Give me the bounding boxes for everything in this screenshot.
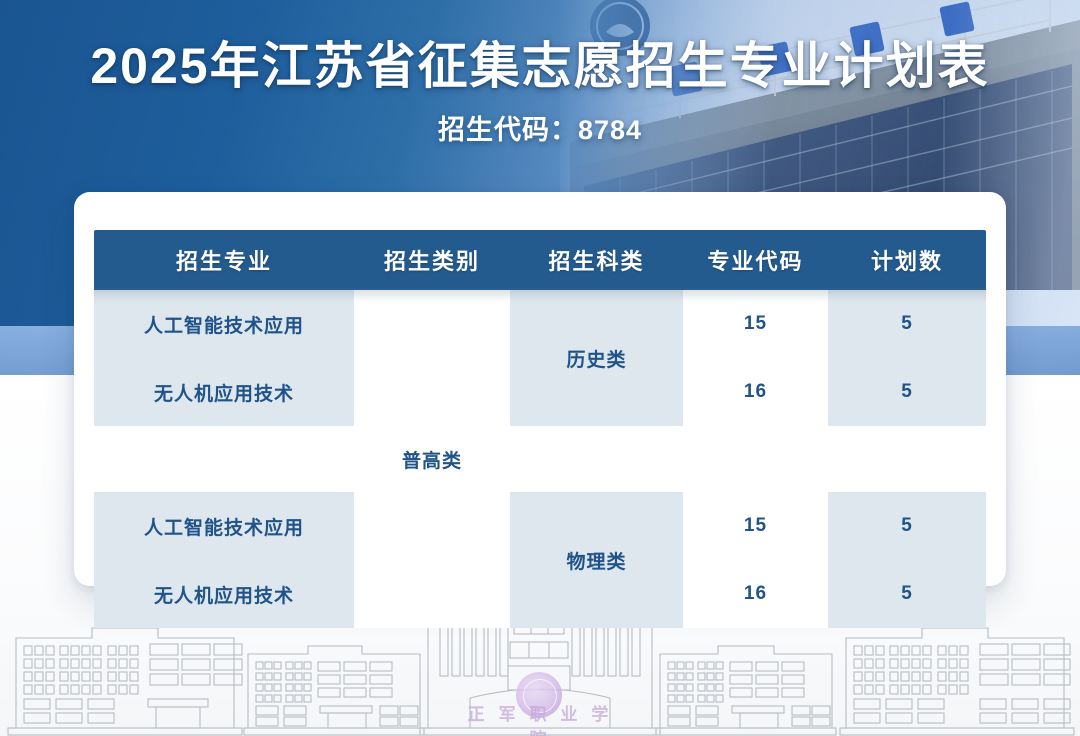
group-gap (683, 426, 828, 492)
cell-quota: 5 (828, 492, 986, 560)
group-gap (828, 426, 986, 492)
building-outline-a (8, 628, 242, 735)
cell-category: 普高类 (354, 290, 510, 628)
admission-code-subtitle: 招生代码：8784 (0, 108, 1080, 147)
title-block: 2025年江苏省征集志愿招生专业计划表 招生代码：8784 (0, 38, 1080, 147)
building-outline-e (840, 628, 1074, 735)
cell-major: 无人机应用技术 (94, 560, 354, 628)
poster-canvas: 2025年江苏省征集志愿招生专业计划表 招生代码：8784 招生专业 招生类别 … (0, 0, 1080, 736)
cell-code: 15 (683, 290, 828, 358)
column-header-code: 专业代码 (683, 230, 828, 290)
cell-code: 16 (683, 560, 828, 628)
group-gap (94, 426, 354, 492)
cell-subject: 物理类 (510, 492, 683, 628)
table-header-row: 招生专业 招生类别 招生科类 专业代码 计划数 (94, 230, 986, 290)
building-outline-b (244, 646, 424, 735)
page-title: 2025年江苏省征集志愿招生专业计划表 (0, 38, 1080, 94)
cell-major: 人工智能技术应用 (94, 290, 354, 358)
cell-quota: 5 (828, 560, 986, 628)
table-row: 人工智能技术应用 普高类 历史类 15 5 (94, 290, 986, 358)
building-outline-d (656, 646, 836, 735)
table-row: 人工智能技术应用 物理类 15 5 (94, 492, 986, 560)
group-separator-row (94, 426, 986, 492)
column-header-category: 招生类别 (354, 230, 510, 290)
column-header-quota: 计划数 (828, 230, 986, 290)
cell-subject: 历史类 (510, 290, 683, 426)
cell-major: 无人机应用技术 (94, 358, 354, 426)
cell-code: 16 (683, 358, 828, 426)
column-header-major: 招生专业 (94, 230, 354, 290)
admission-plan-table: 招生专业 招生类别 招生科类 专业代码 计划数 人工智能技术应用 普高类 历史类… (94, 230, 986, 628)
cell-code: 15 (683, 492, 828, 560)
cell-quota: 5 (828, 290, 986, 358)
column-header-subject: 招生科类 (510, 230, 683, 290)
cell-quota: 5 (828, 358, 986, 426)
group-gap (510, 426, 683, 492)
watermark-school-name: 正 军 职 业 学 院 (455, 700, 625, 736)
cell-major: 人工智能技术应用 (94, 492, 354, 560)
